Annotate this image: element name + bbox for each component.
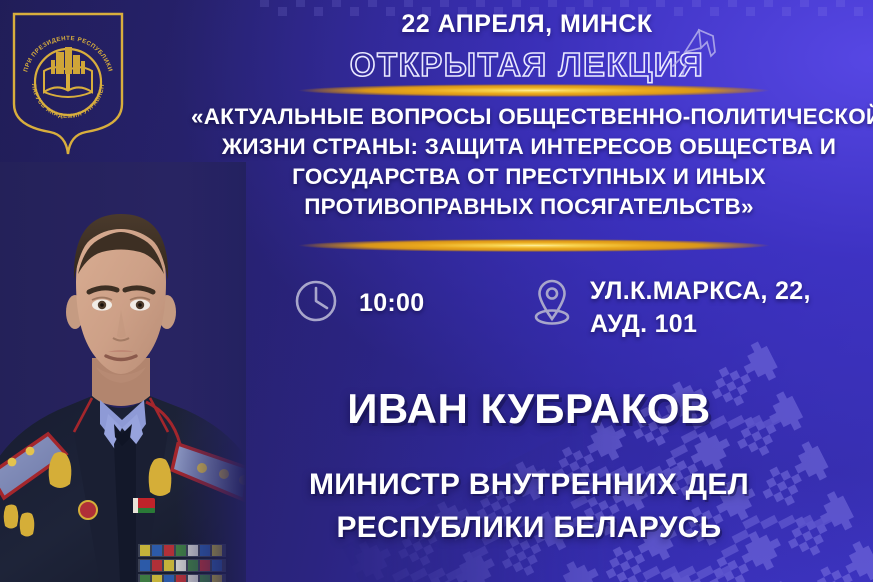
cursor-sparkle-svg bbox=[655, 22, 725, 84]
event-type-heading: ОТКРЫТАЯ ЛЕКЦИЯ bbox=[185, 46, 869, 84]
academy-logo: ПРИ ПРЕЗИДЕНТЕ РЕСПУБЛИКИ БЕЛАРУСЬ АКАДЕ… bbox=[8, 8, 128, 160]
speaker-name: ИВАН КУБРАКОВ bbox=[191, 385, 867, 433]
event-location-group: УЛ.К.МАРКСА, 22, АУД. 101 bbox=[530, 275, 811, 340]
gold-divider-top bbox=[298, 84, 770, 97]
location-pin-icon-svg bbox=[530, 275, 574, 329]
lecture-title-line-4: ПРОТИВОПРАВНЫХ ПОСЯГАТЕЛЬСТВ» bbox=[191, 192, 867, 222]
event-time-value: 10:00 bbox=[359, 287, 424, 320]
lecture-title: «АКТУАЛЬНЫЕ ВОПРОСЫ ОБЩЕСТВЕННО-ПОЛИТИЧЕ… bbox=[191, 102, 867, 222]
speaker-role-line-1: МИНИСТР ВНУТРЕННИХ ДЕЛ bbox=[191, 464, 867, 507]
event-address-line-1: УЛ.К.МАРКСА, 22, bbox=[590, 275, 811, 308]
content-column: 22 АПРЕЛЯ, МИНСК ОТКРЫТАЯ ЛЕКЦИЯ «АКТУАЛ… bbox=[185, 0, 873, 582]
academy-logo-svg: ПРИ ПРЕЗИДЕНТЕ РЕСПУБЛИКИ БЕЛАРУСЬ АКАДЕ… bbox=[8, 8, 128, 160]
event-time-group: 10:00 bbox=[293, 278, 424, 329]
lecture-title-line-2: ЖИЗНИ СТРАНЫ: ЗАЩИТА ИНТЕРЕСОВ ОБЩЕСТВА … bbox=[191, 132, 867, 162]
clock-icon-svg bbox=[293, 278, 339, 324]
clock-icon bbox=[293, 278, 339, 329]
location-pin-icon bbox=[530, 275, 574, 334]
event-address-line-2: АУД. 101 bbox=[590, 308, 811, 341]
gold-divider-bottom bbox=[298, 239, 770, 252]
event-address: УЛ.К.МАРКСА, 22, АУД. 101 bbox=[590, 275, 811, 340]
speaker-role-line-2: РЕСПУБЛИКИ БЕЛАРУСЬ bbox=[191, 507, 867, 550]
poster-canvas: ПРИ ПРЕЗИДЕНТЕ РЕСПУБЛИКИ БЕЛАРУСЬ АКАДЕ… bbox=[0, 0, 873, 582]
cursor-sparkle-icon bbox=[655, 22, 725, 84]
lecture-title-line-1: «АКТУАЛЬНЫЕ ВОПРОСЫ ОБЩЕСТВЕННО-ПОЛИТИЧЕ… bbox=[191, 102, 867, 132]
lecture-title-line-3: ГОСУДАРСТВА ОТ ПРЕСТУПНЫХ И ИНЫХ bbox=[191, 162, 867, 192]
event-details-row: 10:00 УЛ.К.МАРКСА, 22, АУД. 101 bbox=[185, 278, 873, 364]
event-date-location: 22 АПРЕЛЯ, МИНСК bbox=[185, 10, 869, 39]
speaker-role: МИНИСТР ВНУТРЕННИХ ДЕЛ РЕСПУБЛИКИ БЕЛАРУ… bbox=[191, 464, 867, 550]
